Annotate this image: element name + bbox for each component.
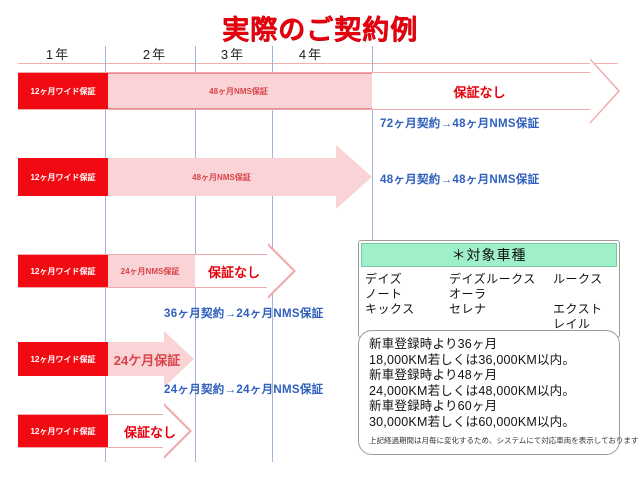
caption-row-24: 24ヶ月契約→24ヶ月NMS保証 — [164, 381, 323, 397]
condition-line: 新車登録時より48ヶ月 — [369, 368, 619, 384]
row-12-wide-segment: 12ヶ月ワイド保証 — [18, 415, 108, 447]
axis-label-year-2: 2年 — [125, 44, 185, 63]
row-36-none-segment: 保証なし — [196, 255, 272, 287]
axis-label-year-4: 4年 — [281, 44, 341, 63]
row-24-wide-segment: 12ヶ月ワイド保証 — [18, 342, 108, 376]
axis-rule — [18, 63, 618, 64]
row-36-wide-segment: 12ヶ月ワイド保証 — [18, 255, 108, 287]
caption-row-72: 72ヶ月契約→48ヶ月NMS保証 — [380, 115, 539, 131]
condition-line: 18,000KM若しくは36,000KM以内。 — [369, 353, 619, 369]
vehicle-name: オーラ — [449, 287, 553, 302]
row-48-nms-segment: 48ヶ月NMS保証 — [105, 158, 338, 196]
vehicle-name: エクストレイル — [553, 302, 613, 332]
condition-line: 30,000KM若しくは60,000KM以内。 — [369, 415, 619, 431]
vehicle-name: ノート — [365, 287, 449, 302]
vehicle-row: キックス セレナ エクストレイル — [365, 302, 613, 332]
target-vehicles-panel: ＊対象車種 デイズ デイズルークス ルークス ノート オーラ キックス セレナ … — [358, 240, 620, 338]
vehicle-name: ルークス — [553, 272, 613, 287]
axis-label-year-1: 1年 — [28, 44, 88, 63]
row-24-nms-segment: 24ケ月保証 — [106, 342, 188, 376]
page-title: 実際のご契約例 — [0, 8, 640, 47]
condition-line: 新車登録時より60ヶ月 — [369, 399, 619, 415]
vehicle-name — [553, 287, 613, 302]
target-vehicles-heading: ＊対象車種 — [361, 243, 617, 267]
caption-row-48: 48ヶ月契約→48ヶ月NMS保証 — [380, 171, 539, 187]
row-36-nms-segment: 24ヶ月NMS保証 — [105, 255, 195, 287]
row-72-none-segment: 保証なし — [372, 73, 587, 109]
conditions-footnote: 上記経過期間は月毎に変化するため、システムにて対応車両を表示しております — [369, 435, 619, 446]
row-12-none-segment: 保証なし — [110, 415, 190, 447]
vehicle-name: キックス — [365, 302, 449, 332]
vehicle-name: セレナ — [449, 302, 553, 332]
target-vehicles-list: デイズ デイズルークス ルークス ノート オーラ キックス セレナ エクストレイ… — [359, 269, 619, 337]
vehicle-name: デイズ — [365, 272, 449, 287]
row-72-wide-segment: 12ヶ月ワイド保証 — [18, 73, 108, 109]
row-48-wide-segment: 12ヶ月ワイド保証 — [18, 158, 108, 196]
condition-line: 24,000KM若しくは48,000KM以内。 — [369, 384, 619, 400]
diagram-canvas: 実際のご契約例 1年 2年 3年 4年 48ヶ月NMS保証 12ヶ月ワイド保証 … — [0, 0, 640, 480]
vehicle-row: デイズ デイズルークス ルークス — [365, 272, 613, 287]
axis-label-year-3: 3年 — [203, 44, 263, 63]
vehicle-name: デイズルークス — [449, 272, 553, 287]
row-48-arrow-head — [336, 145, 372, 209]
caption-row-36: 36ヶ月契約→24ヶ月NMS保証 — [164, 305, 323, 321]
condition-line: 新車登録時より36ヶ月 — [369, 337, 619, 353]
row-72-nms-segment: 48ヶ月NMS保証 — [105, 73, 372, 109]
conditions-panel: 新車登録時より36ヶ月 18,000KM若しくは36,000KM以内。 新車登録… — [358, 330, 620, 455]
vehicle-row: ノート オーラ — [365, 287, 613, 302]
row-72-arrow-head-fill — [590, 60, 618, 122]
